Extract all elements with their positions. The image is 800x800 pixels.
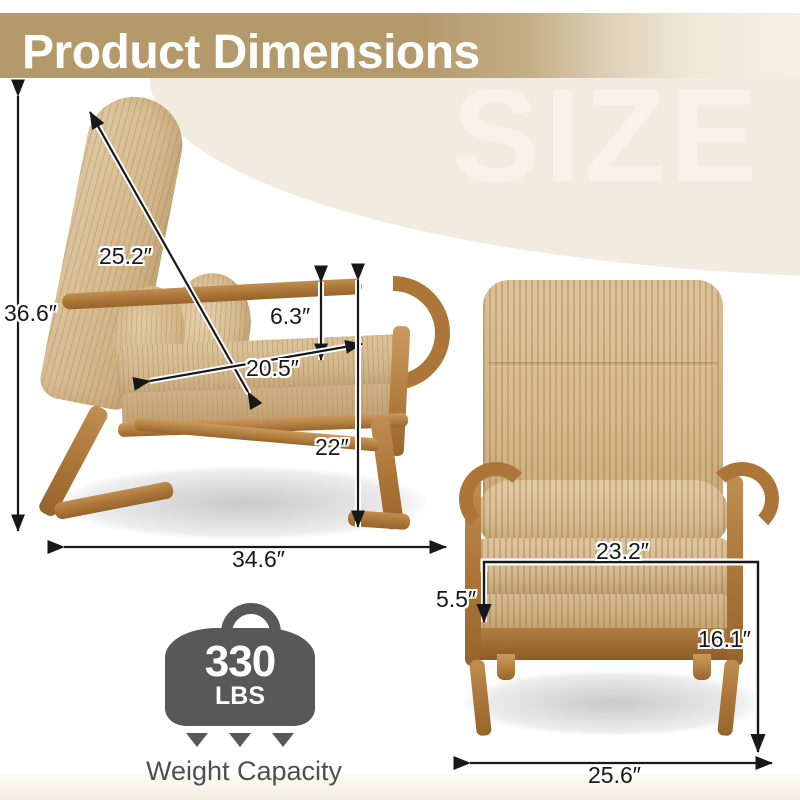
weight-capacity-caption: Weight Capacity (104, 756, 384, 787)
label-seat-width: 23.2″ (596, 538, 649, 565)
backrest-seam (487, 362, 719, 367)
label-arm-height: 22″ (315, 434, 349, 461)
label-backrest-height: 25.2″ (99, 243, 152, 270)
infographic-canvas: SIZE Product Dimensions (0, 0, 800, 800)
weight-amount: 330 (120, 640, 360, 684)
label-seat-height: 16.1″ (698, 626, 751, 653)
right-arm-curve (705, 462, 779, 536)
front-seat-base (477, 594, 729, 632)
down-triangle-icon-3 (272, 733, 294, 747)
front-left-leg (497, 654, 515, 680)
front-right-leg (693, 654, 711, 680)
chair-front-view-illustration (455, 280, 775, 750)
weight-unit: LBS (120, 684, 360, 709)
page-title: Product Dimensions (22, 29, 480, 77)
label-arm-clearance: 6.3″ (270, 303, 310, 330)
label-overall-height: 36.6″ (4, 300, 57, 327)
down-triangle-icon-2 (229, 733, 251, 747)
label-overall-depth: 34.6″ (232, 546, 285, 573)
size-watermark: SIZE (452, 70, 761, 202)
weight-capacity-badge: 330 LBS Weight Capacity (120, 596, 370, 786)
label-cushion-thickness: 5.5″ (436, 586, 476, 613)
left-arm-curve (459, 462, 533, 536)
label-seat-depth: 20.5″ (246, 355, 299, 382)
down-triangle-icon-1 (186, 733, 208, 747)
header-banner: Product Dimensions (0, 13, 800, 78)
label-overall-width: 25.6″ (588, 762, 641, 789)
chair-side-view-illustration (18, 88, 438, 558)
